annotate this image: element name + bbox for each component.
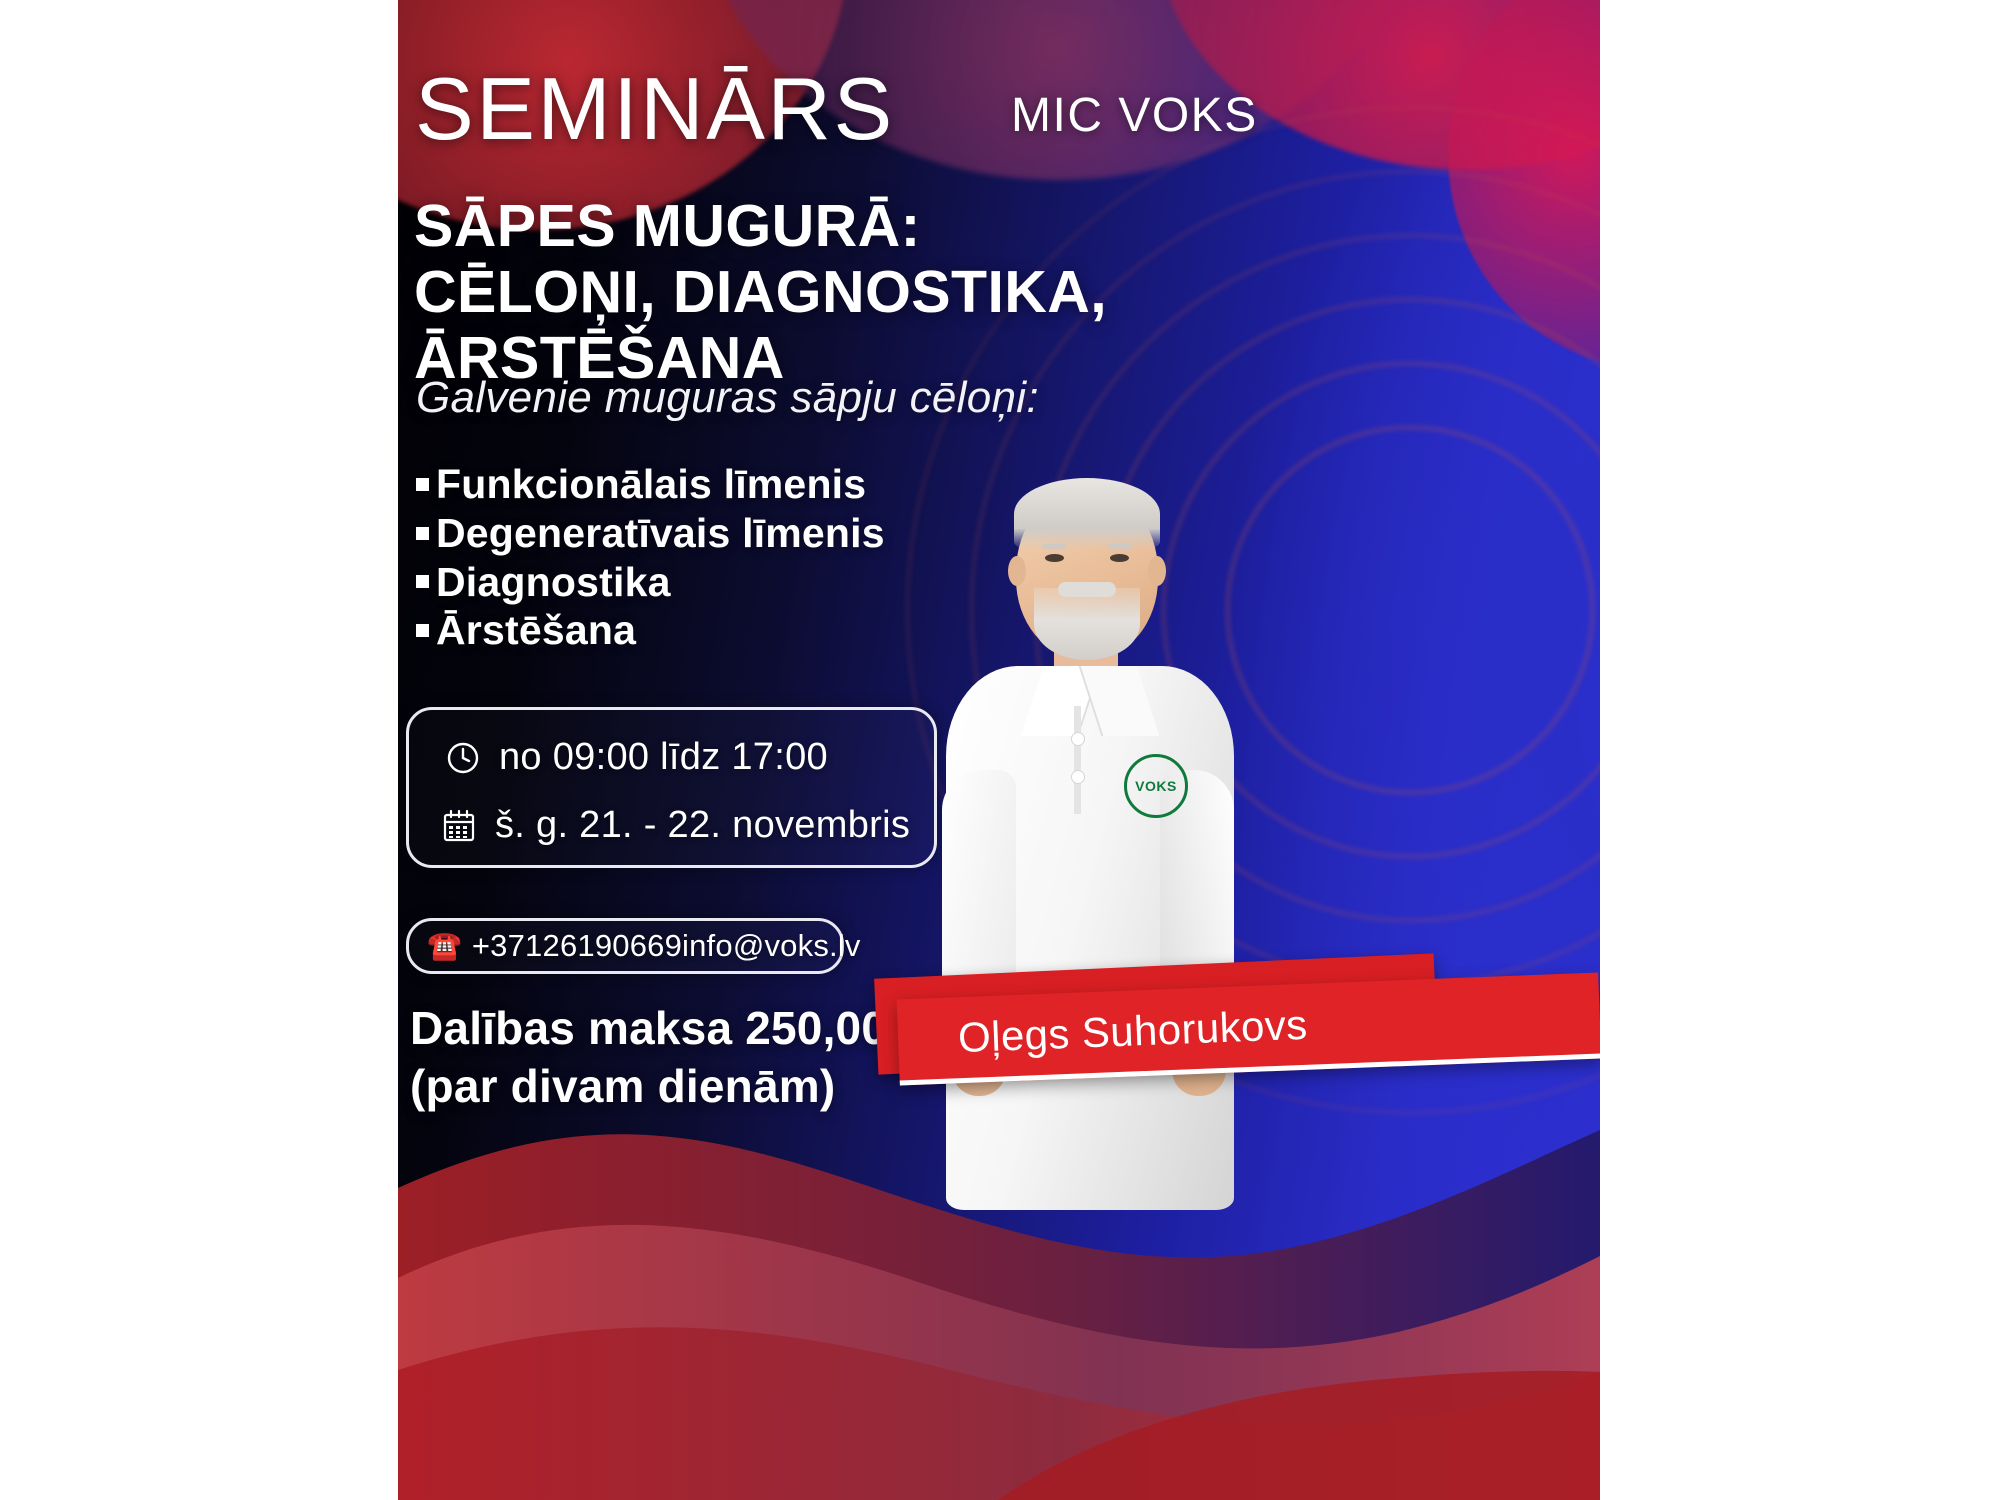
price-note: (par divam dienām) xyxy=(410,1058,930,1116)
list-item: Ārstēšana xyxy=(416,606,885,655)
clock-icon xyxy=(443,738,483,778)
contact-phone[interactable]: +37126190669 xyxy=(472,928,682,964)
speaker-ear-left xyxy=(1008,556,1026,586)
schedule-box: no 09:00 līdz 17:00 xyxy=(406,707,937,868)
calendar-icon xyxy=(439,806,479,846)
square-bullet-icon xyxy=(416,575,429,588)
voks-logo-text: VOKS xyxy=(1135,778,1177,794)
speaker-name: Oļegs Suhorukovs xyxy=(957,1000,1308,1061)
schedule-time-row: no 09:00 līdz 17:00 xyxy=(443,736,828,779)
contact-box[interactable]: ☎️ +37126190669 info@voks.lv xyxy=(406,918,844,974)
speaker-shirt-placket xyxy=(1074,706,1081,814)
speaker-eye-right xyxy=(1110,554,1129,562)
speaker-eye-left xyxy=(1045,554,1064,562)
schedule-time-label: no 09:00 līdz 17:00 xyxy=(499,736,828,779)
speaker-shirt-button xyxy=(1071,732,1085,746)
seminar-subheadline: Galvenie muguras sāpju cēloņi: xyxy=(416,373,1039,423)
list-item-label: Ārstēšana xyxy=(436,606,636,655)
brand-name: MIC VOKS xyxy=(1011,88,1258,143)
square-bullet-icon xyxy=(416,624,429,637)
speaker-ear-right xyxy=(1148,556,1166,586)
telephone-icon: ☎️ xyxy=(427,932,462,960)
voks-shirt-logo: VOKS xyxy=(1124,754,1188,818)
contact-email[interactable]: info@voks.lv xyxy=(682,928,861,964)
decorative-crimson-blob-top-right xyxy=(1158,0,1600,170)
speaker-photo: VOKS xyxy=(928,470,1248,1210)
list-item-label: Diagnostika xyxy=(436,558,671,607)
speaker-beard xyxy=(1034,588,1140,660)
seminar-poster: SEMINĀRS MIC VOKS SĀPES MUGURĀ: CĒLOŅI, … xyxy=(398,0,1600,1500)
seminar-headline: SĀPES MUGURĀ: CĒLOŅI, DIAGNOSTIKA, ĀRSTĒ… xyxy=(414,193,1174,391)
list-item-label: Degeneratīvais līmenis xyxy=(436,509,885,558)
price-block: Dalības maksa 250,00 € (par divam dienām… xyxy=(410,1000,930,1115)
speaker-moustache xyxy=(1058,582,1116,597)
schedule-date-row: š. g. 21. - 22. novembris xyxy=(439,804,910,847)
speaker-eyebrow-left xyxy=(1042,544,1066,549)
speaker-hair xyxy=(1014,478,1160,550)
page-title: SEMINĀRS xyxy=(415,58,895,160)
list-item: Degeneratīvais līmenis xyxy=(416,509,885,558)
topic-list: Funkcionālais līmenis Degeneratīvais līm… xyxy=(416,460,885,655)
speaker-eyebrow-right xyxy=(1108,544,1132,549)
list-item: Funkcionālais līmenis xyxy=(416,460,885,509)
list-item: Diagnostika xyxy=(416,558,885,607)
poster-page: SEMINĀRS MIC VOKS SĀPES MUGURĀ: CĒLOŅI, … xyxy=(0,0,2000,1500)
square-bullet-icon xyxy=(416,478,429,491)
decorative-magenta-blob-right xyxy=(1448,0,1600,370)
schedule-date-label: š. g. 21. - 22. novembris xyxy=(495,804,910,847)
list-item-label: Funkcionālais līmenis xyxy=(436,460,866,509)
square-bullet-icon xyxy=(416,527,429,540)
speaker-shirt-button xyxy=(1071,770,1085,784)
price-amount: Dalības maksa 250,00 € xyxy=(410,1000,930,1058)
